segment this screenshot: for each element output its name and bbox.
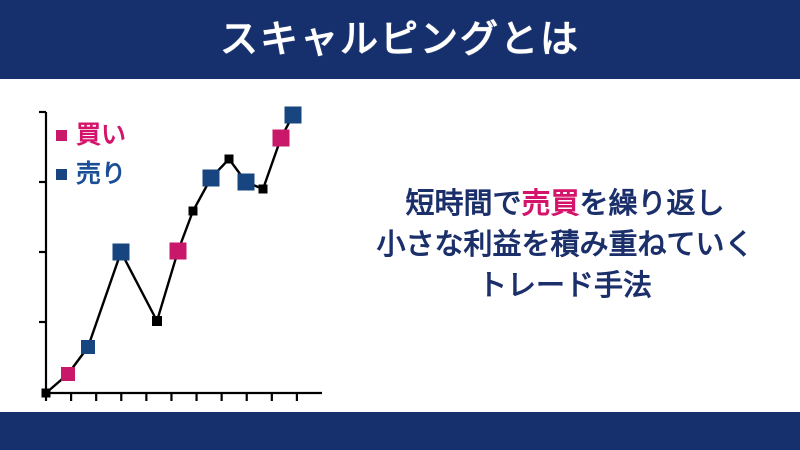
legend-label-sell: 売り (76, 162, 126, 187)
data-point-sell-2 (81, 340, 95, 354)
data-point-none-8 (225, 155, 234, 164)
caption-line-2: 小さな利益を積み重ねていく (376, 225, 753, 266)
legend-swatch-buy-icon (56, 130, 67, 141)
data-point-sell-3 (113, 244, 130, 261)
footer-bar (0, 412, 800, 450)
content-area: 買い 売り 短時間で売買を繰り返し 小さな利益を積み重ねていく トレード手法 (0, 79, 800, 412)
caption-panel: 短時間で売買を繰り返し 小さな利益を積み重ねていく トレード手法 (330, 79, 800, 412)
header-bar: スキャルピングとは (0, 0, 800, 79)
data-point-none-10 (259, 185, 268, 194)
data-point-buy-1 (61, 367, 75, 381)
data-point-sell-9 (238, 174, 255, 191)
caption-line-1-post: を繰り返し (580, 188, 725, 220)
price-chart: 買い 売り (0, 79, 340, 412)
caption-line-1: 短時間で売買を繰り返し (405, 184, 724, 225)
legend-item-buy: 買い (56, 116, 206, 155)
data-point-buy-5 (170, 243, 187, 260)
legend-swatch-sell-icon (56, 169, 67, 180)
caption-line-3: トレード手法 (478, 266, 652, 307)
data-point-buy-11 (273, 130, 290, 147)
caption-line-1-accent: 売買 (521, 188, 579, 220)
legend-label-buy: 買い (76, 123, 126, 148)
caption-line-1-pre: 短時間で (405, 188, 521, 220)
data-point-sell-12 (285, 107, 302, 124)
chart-legend: 買い 売り (56, 116, 206, 194)
page-title: スキャルピングとは (220, 21, 580, 59)
legend-item-sell: 売り (56, 155, 206, 194)
data-point-none-4 (152, 316, 162, 326)
data-point-none-6 (189, 207, 198, 216)
data-point-none-0 (42, 389, 51, 398)
